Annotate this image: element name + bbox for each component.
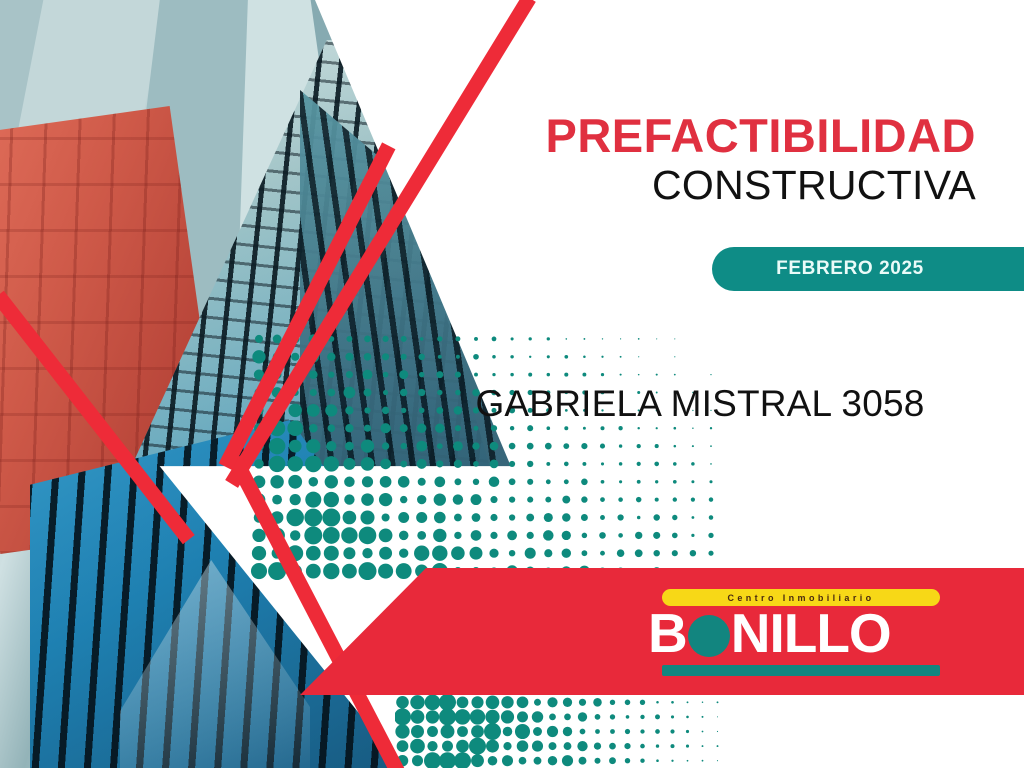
presentation-slide: PREFACTIBILIDAD CONSTRUCTIVA FEBRERO 202… <box>0 0 1024 768</box>
logo-tagline: Centro Inmobiliario <box>727 593 874 603</box>
logo-wordmark: BNILLO <box>648 606 954 661</box>
teal-circle-o-icon <box>688 615 730 657</box>
logo-word-part1: B <box>648 602 687 664</box>
page-title: PREFACTIBILIDAD <box>500 112 976 161</box>
logo-underbar <box>662 665 940 676</box>
logo-word-part2: NILLO <box>731 602 891 664</box>
bonillo-logo: Centro Inmobiliario BNILLO <box>648 589 954 677</box>
page-subtitle: CONSTRUCTIVA <box>500 163 976 209</box>
date-badge: FEBRERO 2025 <box>712 247 1024 291</box>
date-badge-label: FEBRERO 2025 <box>776 258 924 280</box>
title-block: PREFACTIBILIDAD CONSTRUCTIVA <box>500 112 976 209</box>
project-address: GABRIELA MISTRAL 3058 <box>430 383 970 425</box>
